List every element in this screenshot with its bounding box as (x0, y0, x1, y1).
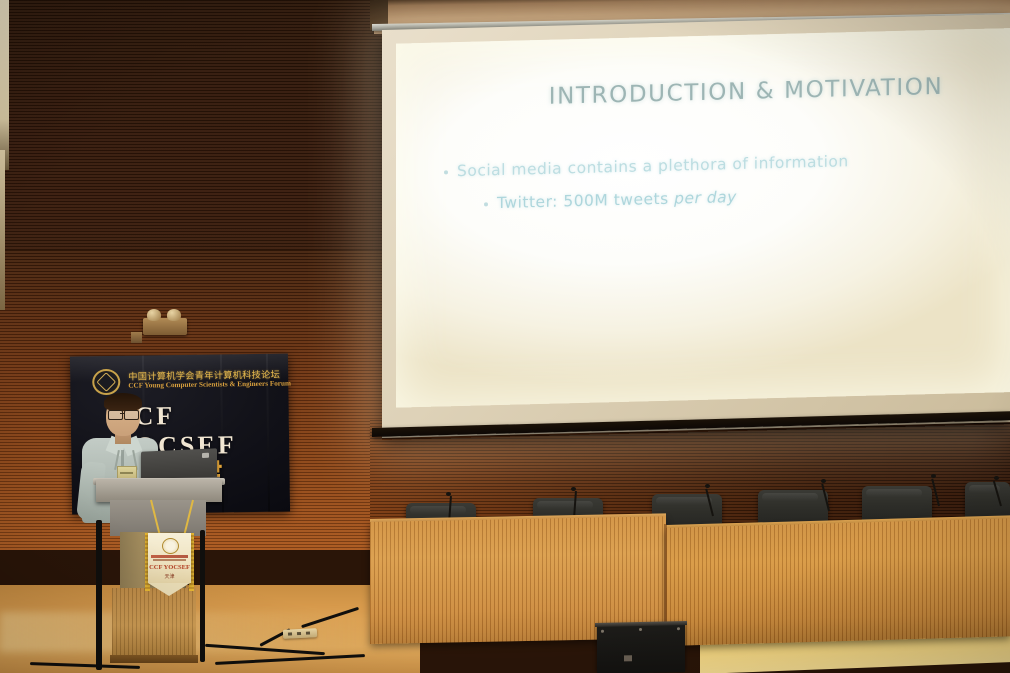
wall-junction-box (131, 332, 142, 343)
pennant-logo-icon (162, 538, 179, 554)
bullet-dot-icon (484, 202, 488, 206)
emergency-lamp-right (167, 309, 181, 321)
slide-title: INTRODUCTION & MOTIVATION (516, 73, 976, 111)
monitor-screw (601, 630, 604, 633)
emergency-lamp-left (147, 309, 161, 321)
power-strip-socket (297, 632, 301, 635)
microphone-head-icon (705, 484, 710, 488)
laptop-logo-icon (202, 453, 209, 458)
power-strip-socket (306, 631, 310, 634)
slide-bullet-1: Social media contains a plethora of info… (444, 152, 849, 180)
podium-base-trim (110, 655, 198, 663)
pennant-tail (148, 583, 190, 596)
slide-bullet-2-emphasis: per day (674, 188, 737, 208)
microphone-head-icon (446, 492, 451, 496)
emergency-light-icon (143, 318, 187, 335)
chair-highlight (537, 501, 593, 509)
name-badge-text-line (120, 472, 133, 474)
bullet-dot-icon (444, 170, 448, 174)
eyeglasses-icon (124, 410, 139, 420)
chair-highlight (656, 497, 712, 505)
microphone-head-icon (994, 476, 999, 480)
monitor-screw (677, 627, 680, 630)
floor-monitor-speaker (597, 624, 685, 673)
chair-highlight (410, 506, 466, 514)
slide-bullet-1-text: Social media contains a plethora of info… (457, 152, 849, 180)
slide-bullet-2: Twitter: 500M tweets per day (484, 188, 737, 212)
power-cable (96, 520, 102, 670)
pennant-sub-text: 天津 (148, 573, 191, 580)
av-cable (200, 530, 205, 662)
power-strip (283, 628, 317, 639)
speaker-hair (104, 393, 142, 411)
monitor-badge-icon (624, 655, 632, 661)
head-table-panel-right (666, 518, 1010, 646)
podium-base (112, 588, 196, 663)
chair-highlight (866, 489, 922, 497)
monitor-screw (639, 628, 642, 631)
pennant-chinese-line (151, 555, 188, 558)
ccf-pennant: CCF YOCSEF 天津 (148, 533, 191, 583)
wall-light-strip-lower (0, 150, 5, 310)
floor-monitor-top-edge (595, 621, 687, 627)
wall-light-strip (0, 0, 9, 170)
chair-highlight (762, 493, 818, 501)
eyeglasses-icon (108, 410, 123, 420)
auditorium-scene: INTRODUCTION & MOTIVATION Social media c… (0, 0, 1010, 673)
slide-bullet-2-text: Twitter: 500M tweets (497, 190, 674, 212)
pennant-org-text: CCF YOCSEF (148, 564, 191, 571)
ccf-logo-icon (92, 369, 120, 395)
pennant-chinese-subline (153, 559, 186, 561)
banner-english-title: CCF Young Computer Scientists & Engineer… (128, 380, 283, 390)
power-strip-socket (288, 632, 292, 635)
microphone-head-icon (821, 479, 826, 483)
projection-screen-surface: INTRODUCTION & MOTIVATION Social media c… (396, 28, 1010, 408)
projection-screen: INTRODUCTION & MOTIVATION Social media c… (382, 14, 1010, 438)
eyeglasses-bridge (120, 413, 125, 414)
microphone-head-icon (571, 487, 576, 491)
microphone-head-icon (931, 474, 936, 478)
podium-top (96, 480, 222, 502)
